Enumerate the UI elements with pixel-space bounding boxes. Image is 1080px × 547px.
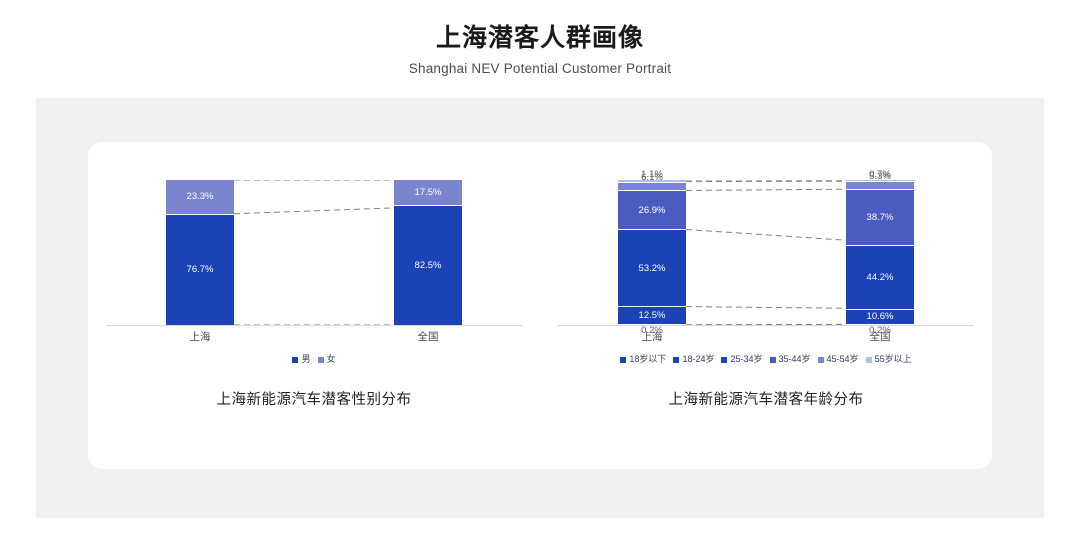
page-title: 上海潜客人群画像 <box>0 22 1080 54</box>
segment-value-label: 17.5% <box>415 187 442 198</box>
segment-value-label: 10.6% <box>867 311 894 322</box>
legend-label: 女 <box>327 354 336 365</box>
legend-label: 35-44岁 <box>779 354 811 365</box>
segment-value-label: 53.2% <box>639 263 666 274</box>
age-xlabel-national: 全国 <box>846 330 914 344</box>
charts-row: 23.3%76.7% 17.5%82.5% 上海 全国 男女 上海新能源汽车潜客… <box>88 142 992 469</box>
legend-item-45-54岁[interactable]: 45-54岁 <box>818 354 859 365</box>
segment-18-24岁[interactable]: 10.6% <box>846 309 914 324</box>
gender-x-axis-labels: 上海 全国 <box>88 330 540 346</box>
age-x-axis-labels: 上海 全国 <box>540 330 992 346</box>
page-root: 上海潜客人群画像 Shanghai NEV Potential Customer… <box>0 0 1080 547</box>
segment-18岁以下[interactable]: 0.2% <box>618 324 686 325</box>
legend-item-55岁以上[interactable]: 55岁以上 <box>866 354 912 365</box>
segment-value-label: 5.3% <box>869 171 891 182</box>
segment-35-44岁[interactable]: 38.7% <box>846 189 914 245</box>
segment-value-label: 44.2% <box>867 272 894 283</box>
legend-label: 18-24岁 <box>682 354 714 365</box>
gender-bar-national[interactable]: 17.5%82.5% <box>394 180 462 325</box>
gender-connector-lines <box>88 180 540 325</box>
page-header: 上海潜客人群画像 Shanghai NEV Potential Customer… <box>0 22 1080 78</box>
legend-item-35-44岁[interactable]: 35-44岁 <box>770 354 811 365</box>
legend-swatch-icon <box>866 357 872 363</box>
legend-item-25-34岁[interactable]: 25-34岁 <box>721 354 762 365</box>
segment-value-label: 6.1% <box>641 172 663 183</box>
legend-item-男[interactable]: 男 <box>292 354 310 365</box>
segment-35-44岁[interactable]: 26.9% <box>618 190 686 229</box>
segment-女[interactable]: 17.5% <box>394 180 462 205</box>
legend-item-18-24岁[interactable]: 18-24岁 <box>673 354 714 365</box>
age-connector-lines <box>540 180 992 325</box>
segment-25-34岁[interactable]: 53.2% <box>618 229 686 306</box>
gender-xlabel-national: 全国 <box>394 330 462 344</box>
gender-plot-area: 23.3%76.7% 17.5%82.5% <box>88 180 540 325</box>
segment-18岁以下[interactable]: 0.2% <box>846 324 914 325</box>
age-plot-area: 1.1%6.1%26.9%53.2%12.5%0.2% 0.7%5.3%38.7… <box>540 180 992 325</box>
legend-swatch-icon <box>673 357 679 363</box>
segment-value-label: 76.7% <box>187 264 214 275</box>
age-legend: 18岁以下18-24岁25-34岁35-44岁45-54岁55岁以上 <box>540 354 992 365</box>
segment-value-label: 82.5% <box>415 260 442 271</box>
legend-item-18岁以下[interactable]: 18岁以下 <box>620 354 666 365</box>
gender-xlabel-shanghai: 上海 <box>166 330 234 344</box>
age-chart-caption: 上海新能源汽车潜客年龄分布 <box>540 390 992 410</box>
content-panel: 23.3%76.7% 17.5%82.5% 上海 全国 男女 上海新能源汽车潜客… <box>36 98 1044 518</box>
segment-value-label: 38.7% <box>867 212 894 223</box>
legend-label: 男 <box>301 354 310 365</box>
legend-label: 18岁以下 <box>629 354 666 365</box>
age-chart: 1.1%6.1%26.9%53.2%12.5%0.2% 0.7%5.3%38.7… <box>540 142 992 469</box>
legend-label: 55岁以上 <box>875 354 912 365</box>
segment-45-54岁[interactable]: 5.3% <box>846 181 914 189</box>
legend-label: 45-54岁 <box>827 354 859 365</box>
age-axis-line <box>558 325 974 326</box>
legend-swatch-icon <box>770 357 776 363</box>
segment-女[interactable]: 23.3% <box>166 180 234 214</box>
legend-swatch-icon <box>721 357 727 363</box>
segment-value-label: 12.5% <box>639 310 666 321</box>
segment-男[interactable]: 76.7% <box>166 214 234 325</box>
segment-value-label: 26.9% <box>639 205 666 216</box>
gender-axis-line <box>106 325 522 326</box>
segment-value-label: 23.3% <box>187 191 214 202</box>
legend-swatch-icon <box>620 357 626 363</box>
gender-legend: 男女 <box>88 354 540 365</box>
legend-swatch-icon <box>818 357 824 363</box>
segment-25-34岁[interactable]: 44.2% <box>846 245 914 309</box>
charts-card: 23.3%76.7% 17.5%82.5% 上海 全国 男女 上海新能源汽车潜客… <box>88 142 992 469</box>
page-subtitle: Shanghai NEV Potential Customer Portrait <box>0 60 1080 78</box>
gender-chart-caption: 上海新能源汽车潜客性别分布 <box>88 390 540 410</box>
segment-男[interactable]: 82.5% <box>394 205 462 325</box>
segment-45-54岁[interactable]: 6.1% <box>618 182 686 191</box>
age-bar-national[interactable]: 0.7%5.3%38.7%44.2%10.6%0.2% <box>846 180 914 325</box>
legend-swatch-icon <box>292 357 298 363</box>
gender-bar-shanghai[interactable]: 23.3%76.7% <box>166 180 234 325</box>
legend-label: 25-34岁 <box>730 354 762 365</box>
legend-item-女[interactable]: 女 <box>318 354 336 365</box>
legend-swatch-icon <box>318 357 324 363</box>
age-xlabel-shanghai: 上海 <box>618 330 686 344</box>
age-bar-shanghai[interactable]: 1.1%6.1%26.9%53.2%12.5%0.2% <box>618 180 686 325</box>
segment-18-24岁[interactable]: 12.5% <box>618 306 686 324</box>
gender-chart: 23.3%76.7% 17.5%82.5% 上海 全国 男女 上海新能源汽车潜客… <box>88 142 540 469</box>
